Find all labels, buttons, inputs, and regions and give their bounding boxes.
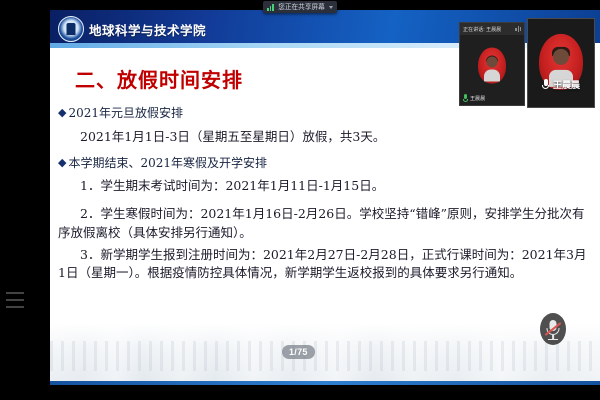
slide-title: 二、放假时间安排 [75, 64, 243, 93]
paragraph: 3．新学期学生报到注册时间为：2021年2月27日-2月28日，正式行课时间为：… [58, 246, 592, 282]
campus-photo-background [50, 323, 600, 385]
avatar [478, 47, 506, 83]
meeting-float-toolbar[interactable]: 您正在共享屏幕 [263, 1, 337, 13]
screen-share-window: 地球科学与技术学院 二、放假时间安排 ◆ 2021年元旦放假安排 2021年1月… [0, 0, 600, 400]
participant-name-row: 王晨晨 [463, 94, 487, 102]
slide-header-institution: 地球科学与技术学院 [89, 20, 206, 39]
participant-name-row: 王晨晨 [528, 78, 594, 91]
bullet-label: 2021年元旦放假安排 [68, 106, 183, 122]
participant-tile[interactable]: 正在讲话: 王晨晨 王晨晨 [459, 22, 525, 106]
avatar-head [553, 48, 569, 64]
diamond-bullet-icon: ◆ [58, 106, 66, 120]
tile-topbar: 正在讲话: 王晨晨 [460, 23, 524, 35]
share-status-label: 您正在共享屏幕 [278, 2, 325, 12]
chevron-down-icon[interactable] [329, 6, 333, 9]
signal-bars-icon [267, 4, 274, 11]
audio-wave-icon [515, 26, 521, 32]
participant-name: 王晨晨 [553, 78, 580, 91]
participant-name: 王晨晨 [470, 94, 485, 101]
microphone-muted-icon[interactable] [540, 313, 566, 345]
list-menu-icon[interactable] [6, 292, 24, 314]
active-speaker-label: 正在讲话: 王晨晨 [463, 25, 501, 32]
bullet-item: ◆ 本学期结束、2021年寒假及开学安排 [58, 156, 592, 172]
page-indicator: 1/75 [282, 345, 315, 359]
bullet-label: 本学期结束、2021年寒假及开学安排 [68, 156, 267, 172]
avatar-body [484, 69, 500, 81]
paragraph: 2021年1月1日-3日（星期五至星期日）放假，共3天。 [58, 128, 592, 146]
diamond-bullet-icon: ◆ [58, 156, 66, 170]
slide-content: ◆ 2021年元旦放假安排 2021年1月1日-3日（星期五至星期日）放假，共3… [58, 106, 592, 286]
mic-foot [548, 339, 558, 341]
participant-tile-active[interactable]: 王晨晨 [527, 18, 595, 108]
university-seal-icon [58, 16, 84, 42]
avatar-head [487, 57, 498, 68]
paragraph: 2．学生寒假时间为：2021年1月16日-2月26日。学校坚持“错峰”原则，安排… [58, 205, 592, 241]
bullet-item: ◆ 2021年元旦放假安排 [58, 106, 592, 122]
slide-bottom-rule [50, 381, 600, 385]
microphone-icon [542, 79, 550, 90]
microphone-icon [463, 94, 468, 102]
paragraph: 1．学生期末考试时间为：2021年1月11日-1月15日。 [58, 177, 592, 195]
